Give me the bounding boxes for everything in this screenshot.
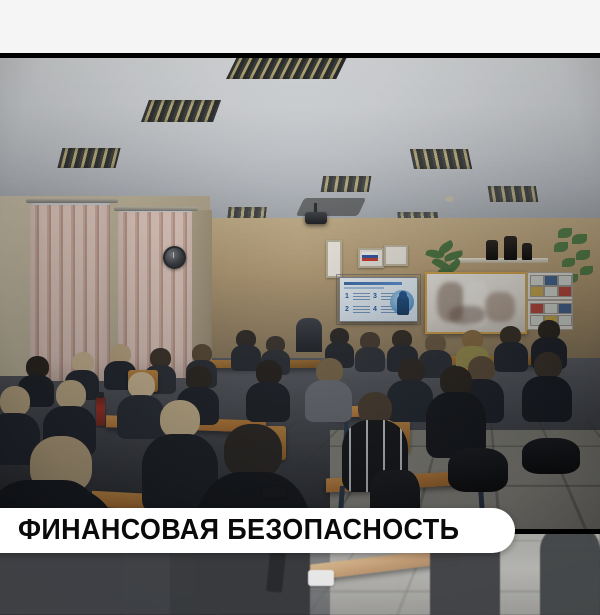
trophy-icon xyxy=(504,236,517,260)
caption-pill: ФИНАНСОВАЯ БЕЗОПАСНОСТЬ xyxy=(0,508,515,553)
smoke-detector-icon xyxy=(445,196,454,202)
top-divider-rule xyxy=(0,53,600,58)
backpack xyxy=(522,438,580,474)
backpack xyxy=(448,448,508,492)
framed-certificate xyxy=(384,245,408,266)
ceiling-light-panel xyxy=(58,148,121,168)
caption-text: ФИНАНСОВАЯ БЕЗОПАСНОСТЬ xyxy=(18,516,459,545)
whiteboard xyxy=(425,272,527,334)
drink-bottle xyxy=(96,396,105,426)
bottle-cap xyxy=(97,392,104,398)
photo-card: 1 2 3 4 xyxy=(0,0,600,615)
slide-number: 2 xyxy=(345,306,349,313)
blind-rail xyxy=(26,199,118,203)
trophy-icon xyxy=(522,243,532,260)
smartphone-on-desk xyxy=(262,485,287,499)
slide-title-bar xyxy=(344,282,402,285)
projection-screen: 1 2 3 4 xyxy=(339,277,418,322)
ceiling-light-panel xyxy=(488,186,539,202)
slide-number: 1 xyxy=(345,293,349,300)
slide-number: 4 xyxy=(373,306,377,313)
slide-subtitle-bar xyxy=(344,287,384,289)
slide-illustration xyxy=(390,290,414,317)
framed-certificate xyxy=(358,248,384,268)
trophy-icon xyxy=(486,240,498,260)
ceiling-light-panel xyxy=(226,55,348,79)
ceiling-light-panel xyxy=(141,100,221,122)
slide-number: 3 xyxy=(373,293,377,300)
ceiling-light-panel xyxy=(410,149,472,169)
vertical-blinds xyxy=(30,205,110,381)
ceiling-light-panel xyxy=(321,176,372,192)
display-shelf xyxy=(452,258,548,263)
framed-certificate xyxy=(326,240,342,278)
presenter-figure xyxy=(296,318,322,352)
ceiling-projector-icon xyxy=(305,212,327,224)
wall-clock-icon xyxy=(163,246,186,269)
blind-rail xyxy=(114,207,198,211)
paper-sheet xyxy=(308,570,334,586)
